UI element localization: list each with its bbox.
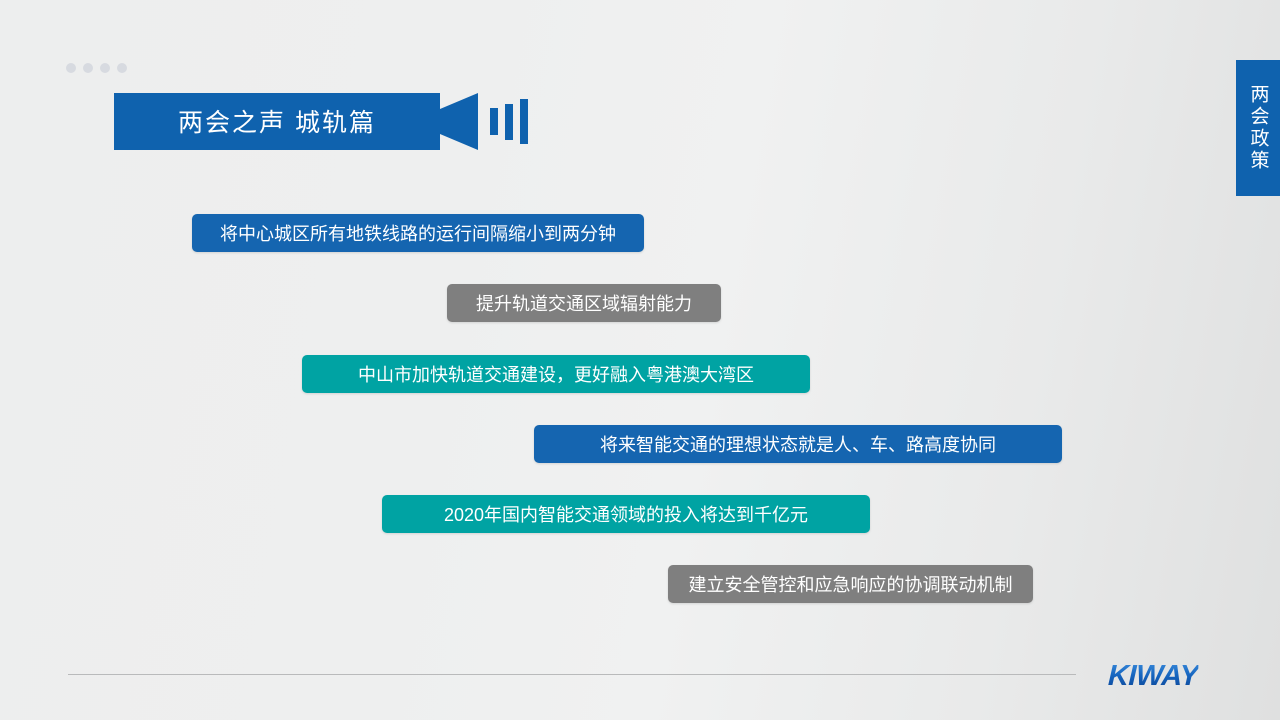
statement-bar-list: 将中心城区所有地铁线路的运行间隔缩小到两分钟提升轨道交通区域辐射能力中山市加快轨… xyxy=(0,0,1280,720)
statement-bar[interactable]: 将来智能交通的理想状态就是人、车、路高度协同 xyxy=(534,425,1062,463)
kiway-logo: KIWAY xyxy=(1107,660,1199,693)
statement-bar[interactable]: 2020年国内智能交通领域的投入将达到千亿元 xyxy=(382,495,870,533)
footer-divider xyxy=(68,674,1076,675)
statement-bar[interactable]: 中山市加快轨道交通建设，更好融入粤港澳大湾区 xyxy=(302,355,810,393)
statement-bar-label: 中山市加快轨道交通建设，更好融入粤港澳大湾区 xyxy=(358,361,754,387)
statement-bar-label: 建立安全管控和应急响应的协调联动机制 xyxy=(689,571,1013,597)
statement-bar-label: 将来智能交通的理想状态就是人、车、路高度协同 xyxy=(600,431,996,457)
statement-bar-label: 2020年国内智能交通领域的投入将达到千亿元 xyxy=(444,501,808,527)
statement-bar[interactable]: 将中心城区所有地铁线路的运行间隔缩小到两分钟 xyxy=(192,214,644,252)
statement-bar[interactable]: 建立安全管控和应急响应的协调联动机制 xyxy=(668,565,1033,603)
statement-bar[interactable]: 提升轨道交通区域辐射能力 xyxy=(447,284,721,322)
statement-bar-label: 提升轨道交通区域辐射能力 xyxy=(476,290,692,316)
statement-bar-label: 将中心城区所有地铁线路的运行间隔缩小到两分钟 xyxy=(220,220,616,246)
